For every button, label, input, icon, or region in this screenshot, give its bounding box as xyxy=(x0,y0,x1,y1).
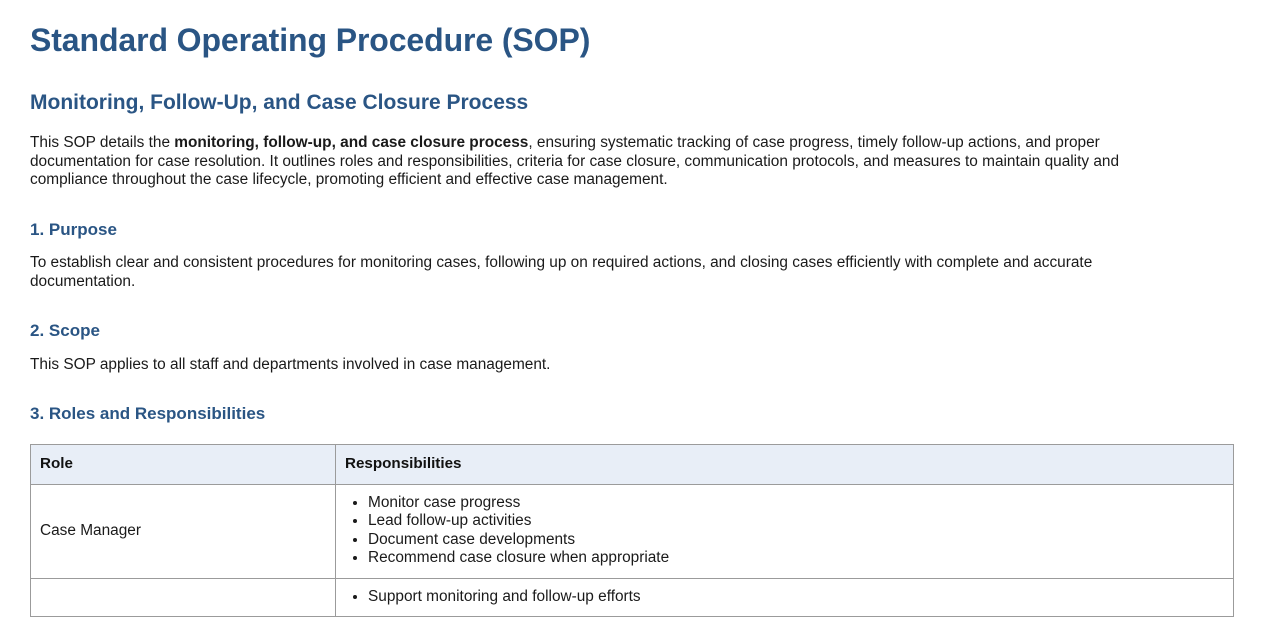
list-item: Support monitoring and follow-up efforts xyxy=(368,588,1224,606)
responsibilities-list: Support monitoring and follow-up efforts xyxy=(345,588,1224,606)
section-heading-purpose: 1. Purpose xyxy=(30,220,1233,240)
role-cell: Case Manager xyxy=(31,484,336,578)
table-row: Case Manager Monitor case progress Lead … xyxy=(31,484,1234,578)
responsibilities-list: Monitor case progress Lead follow-up act… xyxy=(345,494,1224,568)
document-page: Standard Operating Procedure (SOP) Monit… xyxy=(0,0,1263,617)
section-heading-scope: 2. Scope xyxy=(30,321,1233,341)
section-body-purpose: To establish clear and consistent proced… xyxy=(30,254,1165,291)
column-header-responsibilities: Responsibilities xyxy=(336,444,1234,484)
section-heading-roles-and-responsibilities: 3. Roles and Responsibilities xyxy=(30,404,1233,424)
document-subtitle: Monitoring, Follow-Up, and Case Closure … xyxy=(30,90,1233,115)
list-item: Monitor case progress xyxy=(368,494,1224,512)
roles-responsibilities-table: Role Responsibilities Case Manager Monit… xyxy=(30,444,1234,617)
list-item: Recommend case closure when appropriate xyxy=(368,549,1224,567)
intro-bold-phrase: monitoring, follow-up, and case closure … xyxy=(174,134,528,151)
list-item: Lead follow-up activities xyxy=(368,512,1224,530)
intro-paragraph: This SOP details the monitoring, follow-… xyxy=(30,134,1166,190)
section-body-scope: This SOP applies to all staff and depart… xyxy=(30,356,1165,375)
table-row: Support monitoring and follow-up efforts xyxy=(31,578,1234,616)
list-item: Document case developments xyxy=(368,531,1224,549)
role-cell xyxy=(31,578,336,616)
responsibilities-cell: Monitor case progress Lead follow-up act… xyxy=(336,484,1234,578)
responsibilities-cell: Support monitoring and follow-up efforts xyxy=(336,578,1234,616)
table-header-row: Role Responsibilities xyxy=(31,444,1234,484)
intro-text-before-bold: This SOP details the xyxy=(30,134,174,151)
page-title: Standard Operating Procedure (SOP) xyxy=(30,22,1233,60)
column-header-role: Role xyxy=(31,444,336,484)
